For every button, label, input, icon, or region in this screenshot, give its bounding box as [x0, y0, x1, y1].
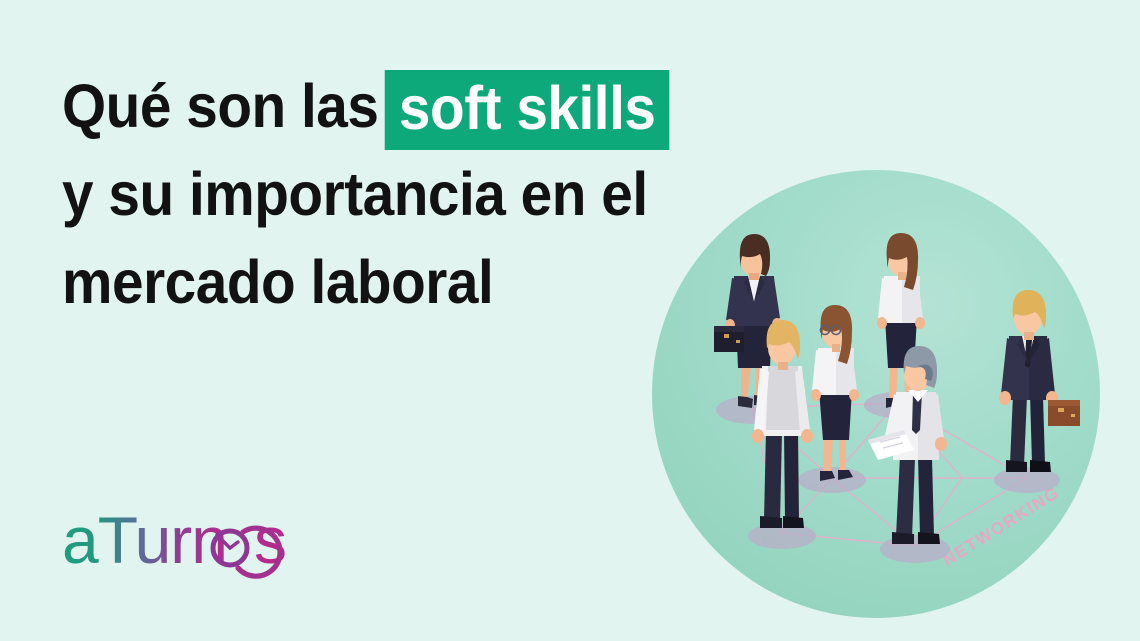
logo-letter-s: s: [254, 505, 286, 577]
poster-canvas: Qué son lassoft skills y su importancia …: [0, 0, 1140, 641]
headline-highlight-soft-skills: soft skills: [385, 70, 669, 150]
logo-wordmark-text: aTurn: [62, 505, 227, 577]
aturnos-logo[interactable]: aTurn s: [62, 505, 322, 585]
page-title: Qué son lassoft skills y su importancia …: [62, 62, 722, 326]
briefcase-brown: [1048, 400, 1080, 426]
networking-illustration: NETWORKING: [652, 168, 1100, 620]
headline-line-1-text: Qué son las: [62, 72, 378, 140]
headline-line-3: mercado laboral: [62, 238, 676, 326]
headline-line-2: y su importancia en el: [62, 150, 676, 238]
headline-line-1: Qué son lassoft skills: [62, 62, 676, 150]
briefcase-black: [714, 326, 744, 352]
